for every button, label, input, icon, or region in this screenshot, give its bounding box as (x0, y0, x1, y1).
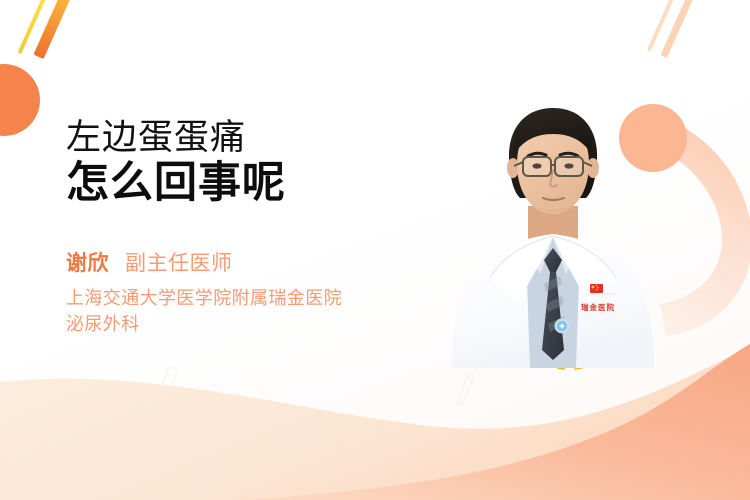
doctor-affiliation: 上海交通大学医学院附属瑞金医院 泌尿外科 (66, 286, 436, 337)
doctor-credit-row: 谢欣 副主任医师 (66, 247, 436, 277)
page-title-line-1: 左边蛋蛋痛 (66, 118, 436, 157)
page-title-line-2: 怎么回事呢 (66, 159, 436, 209)
hospital-name: 上海交通大学医学院附属瑞金医院 (66, 286, 436, 312)
thumbnail-canvas: 瑞金医院 (0, 0, 750, 500)
doctor-portrait: 瑞金医院 (440, 88, 670, 368)
department-name: 泌尿外科 (66, 312, 436, 338)
doctor-title: 副主任医师 (125, 247, 233, 277)
svg-text:瑞金医院: 瑞金医院 (581, 302, 615, 312)
doctor-name: 谢欣 (66, 247, 109, 277)
text-block: 左边蛋蛋痛 怎么回事呢 谢欣 副主任医师 上海交通大学医学院附属瑞金医院 泌尿外… (66, 118, 436, 337)
orange-circle-decoration (0, 64, 40, 136)
